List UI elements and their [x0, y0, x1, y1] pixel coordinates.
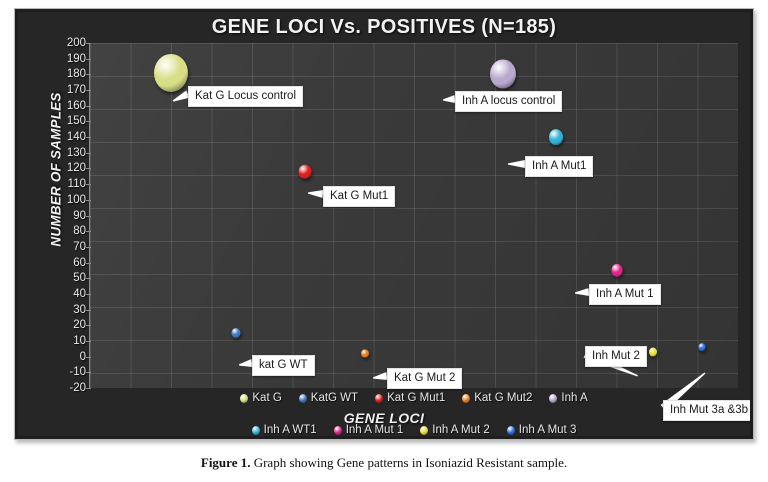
legend-item[interactable]: Kat G Mut1 — [375, 392, 445, 404]
y-axis-tick-mark — [86, 74, 91, 75]
data-point-callout: Inh A locus control — [455, 91, 562, 112]
y-axis-label: NUMBER OF SAMPLES — [49, 70, 64, 270]
data-point[interactable] — [231, 328, 240, 338]
y-axis-tick-mark — [86, 325, 91, 326]
y-axis-tick-mark — [86, 184, 91, 185]
legend-item-label: KatG WT — [311, 392, 358, 404]
y-axis-tick-mark — [86, 357, 91, 358]
y-axis-tick-mark — [86, 137, 91, 138]
legend-item[interactable]: KatG WT — [299, 392, 358, 404]
legend-swatch-icon — [252, 426, 260, 435]
y-axis-tick-mark — [86, 278, 91, 279]
data-point[interactable] — [549, 129, 563, 145]
legend-item-label: Inh A Mut 2 — [432, 424, 490, 436]
y-axis-tick-mark — [86, 372, 91, 373]
legend-row-1: Kat GKatG WTKat G Mut1Kat G Mut2Inh A — [90, 389, 738, 407]
data-point[interactable] — [490, 60, 516, 89]
chart-surface: GENE LOCI Vs. POSITIVES (N=185) 20019018… — [18, 12, 750, 436]
y-axis-tick-mark — [86, 310, 91, 311]
chart-title: GENE LOCI Vs. POSITIVES (N=185) — [18, 16, 750, 39]
legend-item-label: Inh A Mut 3 — [519, 424, 577, 436]
figure-page: GENE LOCI Vs. POSITIVES (N=185) 20019018… — [0, 0, 768, 482]
figure-caption-label: Figure 1. — [201, 455, 251, 470]
chart-legend: Kat GKatG WTKat G Mut1Kat G Mut2Inh A In… — [90, 388, 738, 436]
legend-item-label: Inh A — [561, 392, 587, 404]
y-axis-tick-label: 190 — [52, 54, 86, 64]
y-axis-tick-mark — [86, 43, 91, 44]
data-point-callout: Kat G Locus control — [188, 86, 303, 107]
legend-swatch-icon — [299, 394, 307, 403]
figure-caption: Figure 1. Graph showing Gene patterns in… — [0, 455, 768, 471]
data-point-callout: Inh Mut 2 — [585, 346, 647, 367]
chart-frame: GENE LOCI Vs. POSITIVES (N=185) 20019018… — [14, 8, 754, 440]
y-axis-tick-mark — [86, 168, 91, 169]
legend-item[interactable]: Inh A Mut 1 — [334, 424, 404, 436]
y-axis-tick-mark — [86, 200, 91, 201]
legend-swatch-icon — [420, 426, 428, 435]
y-axis-tick-mark — [86, 59, 91, 60]
legend-item-label: Kat G — [252, 392, 281, 404]
y-axis-tick-label: 0 — [52, 352, 86, 362]
y-axis-tick-mark — [86, 263, 91, 264]
legend-swatch-icon — [507, 426, 515, 435]
legend-item[interactable]: Inh A — [549, 392, 587, 404]
y-axis-tick-mark — [86, 106, 91, 107]
data-point-callout: Inh A Mut1 — [525, 156, 593, 177]
legend-row-2: Inh A WT1Inh A Mut 1Inh A Mut 2Inh A Mut… — [90, 421, 738, 436]
data-point-callout: Kat G Mut1 — [323, 186, 395, 207]
legend-swatch-icon — [375, 394, 383, 403]
legend-swatch-icon — [462, 394, 470, 403]
y-axis-tick-label: 30 — [52, 305, 86, 315]
legend-item[interactable]: Inh A Mut 3 — [507, 424, 577, 436]
y-axis-tick-mark — [86, 216, 91, 217]
legend-item[interactable]: Kat G — [240, 392, 281, 404]
data-point[interactable] — [649, 347, 657, 356]
y-axis-tick-label: 200 — [52, 38, 86, 48]
y-axis-tick-mark — [86, 341, 91, 342]
data-point-callout: Inh A Mut 1 — [589, 284, 661, 305]
y-axis-tick-label: 40 — [52, 289, 86, 299]
y-axis-tick-mark — [86, 121, 91, 122]
data-point[interactable] — [698, 343, 705, 351]
y-axis-tick-label: 10 — [52, 336, 86, 346]
y-axis-tick-label: -20 — [52, 383, 86, 393]
legend-item-label: Kat G Mut2 — [474, 392, 532, 404]
data-point[interactable] — [154, 54, 188, 92]
legend-swatch-icon — [334, 426, 342, 435]
data-point-callout: kat G WT — [252, 355, 315, 376]
legend-item[interactable]: Kat G Mut2 — [462, 392, 532, 404]
legend-item[interactable]: Inh A WT1 — [252, 424, 317, 436]
legend-item-label: Kat G Mut1 — [387, 392, 445, 404]
y-axis-tick-mark — [86, 231, 91, 232]
legend-swatch-icon — [549, 394, 557, 403]
data-point-callout: Kat G Mut 2 — [387, 368, 462, 389]
data-point[interactable] — [298, 164, 311, 179]
legend-item-label: Inh A WT1 — [264, 424, 317, 436]
y-axis-tick-label: -10 — [52, 367, 86, 377]
legend-item-label: Inh A Mut 1 — [346, 424, 404, 436]
y-axis-tick-label: 50 — [52, 273, 86, 283]
y-axis-tick-label: 20 — [52, 320, 86, 330]
data-point[interactable] — [361, 349, 369, 358]
legend-item[interactable]: Inh A Mut 2 — [420, 424, 490, 436]
y-axis-tick-mark — [86, 247, 91, 248]
figure-caption-text: Graph showing Gene patterns in Isoniazid… — [250, 455, 567, 470]
legend-swatch-icon — [240, 394, 248, 403]
y-axis-tick-mark — [86, 294, 91, 295]
y-axis-tick-mark — [86, 153, 91, 154]
y-axis-tick-mark — [86, 90, 91, 91]
